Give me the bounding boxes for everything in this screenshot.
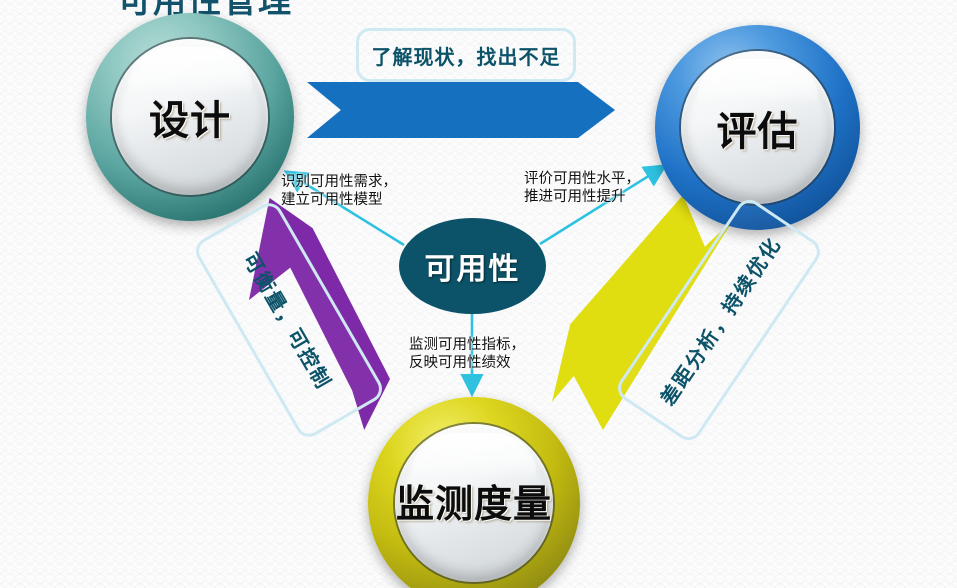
connector-label-to-design: 识别可用性需求， 建立可用性模型 [281,173,397,209]
connector-label-to-evaluate: 评价可用性水平， 推进可用性提升 [524,170,640,206]
node-design-label: 设计 [86,13,294,221]
node-evaluate[interactable]: 评估 [655,25,860,230]
connector-label-to-measure: 监测可用性指标， 反映可用性绩效 [409,336,525,372]
node-measure[interactable]: 监测度量 [368,397,580,588]
node-design[interactable]: 设计 [86,13,294,221]
callout-top-label: 了解现状，找出不足 [372,41,561,70]
center-node-usability[interactable]: 可用性 [399,218,546,314]
center-node-label: 可用性 [425,244,521,288]
blue-arrow-design-to-evaluate [307,82,615,138]
node-measure-label: 监测度量 [368,397,580,588]
callout-understand-status: 了解现状，找出不足 [356,28,576,82]
node-evaluate-label: 评估 [655,25,860,230]
diagram-canvas: 可用性管理 可衡量，可控制 差距分析，持续优化 了解现状，找出不足 设计 [0,0,957,588]
